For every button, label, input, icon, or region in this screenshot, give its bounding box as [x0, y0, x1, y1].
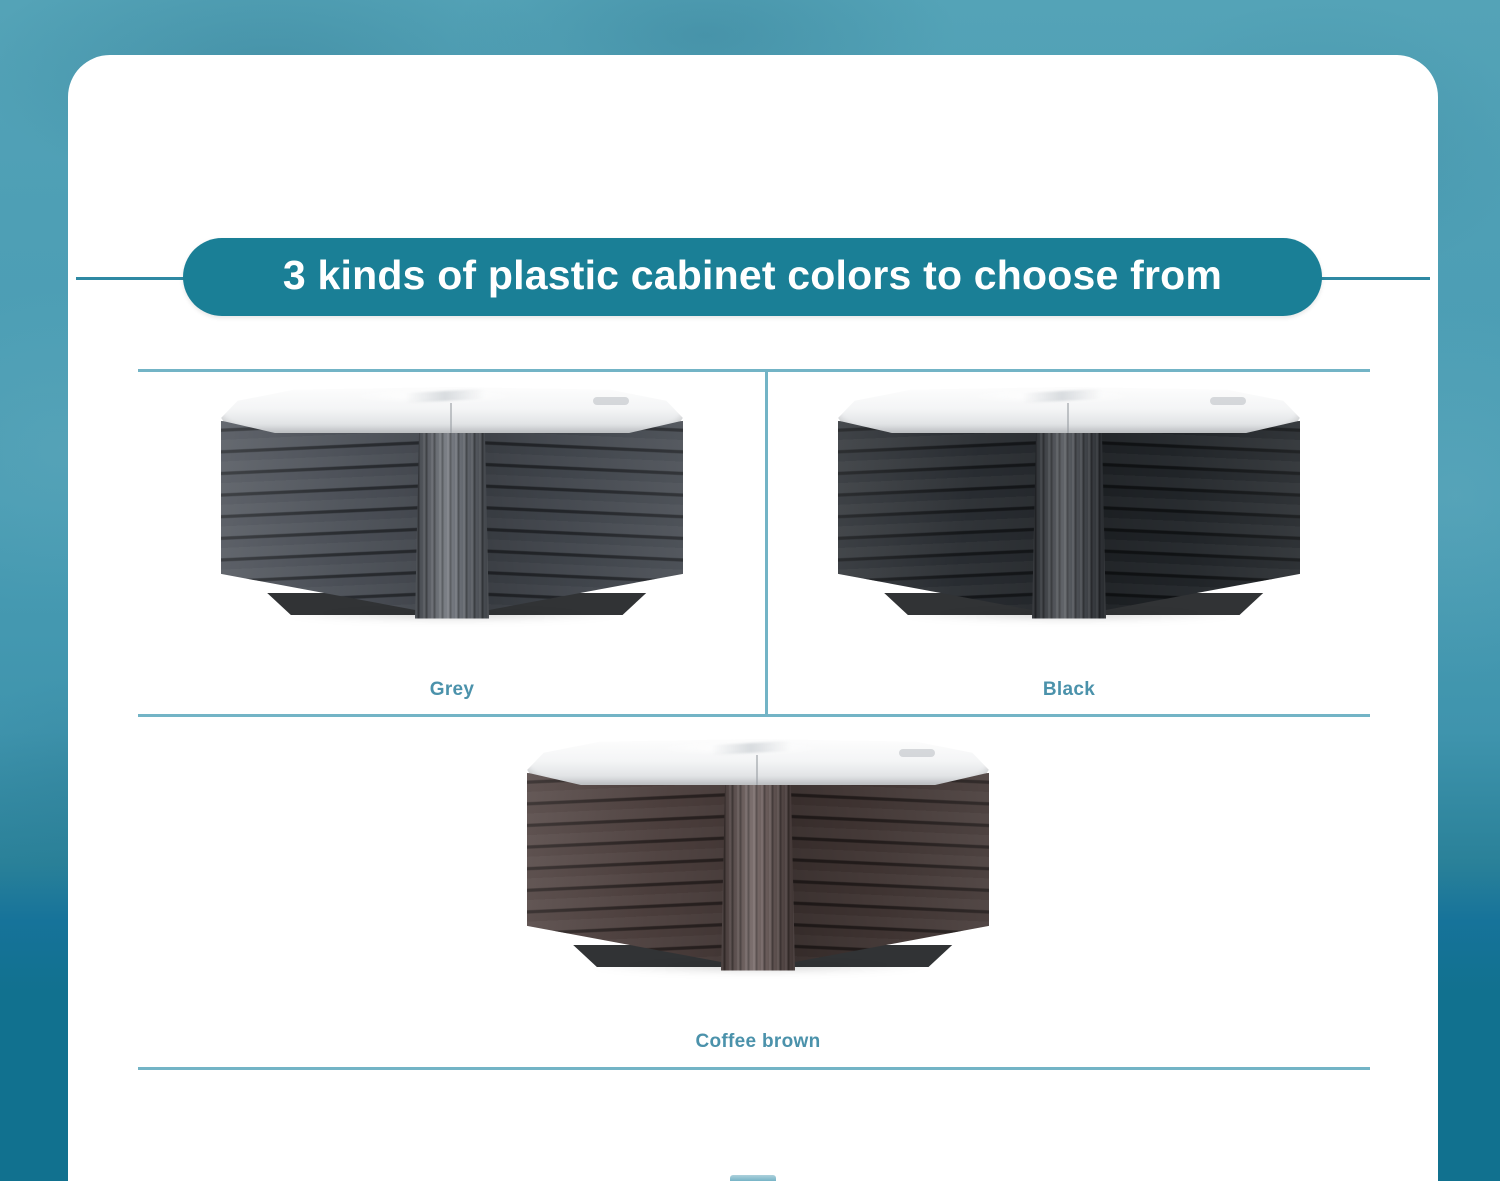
product-cell-black[interactable]: Black: [768, 375, 1370, 715]
content-card: 3 kinds of plastic cabinet colors to cho…: [68, 55, 1438, 1181]
product-label-coffee-brown: Coffee brown: [448, 1031, 1068, 1053]
page-title: 3 kinds of plastic cabinet colors to cho…: [283, 255, 1222, 299]
lid-notch: [1210, 397, 1246, 405]
tub-lid: [525, 733, 991, 795]
cabinet-corner-post: [1032, 415, 1106, 627]
tub-lid: [219, 381, 685, 443]
cabinet-corner-post: [721, 767, 795, 979]
product-image-grey: [138, 375, 766, 633]
tub-lid: [836, 381, 1302, 443]
section-heading-banner: 3 kinds of plastic cabinet colors to cho…: [68, 238, 1438, 318]
product-label-black: Black: [768, 679, 1370, 701]
divider-top: [138, 369, 1370, 372]
corner-highlight: [721, 767, 795, 979]
divider-bottom: [138, 1067, 1370, 1070]
product-label-grey: Grey: [138, 679, 766, 701]
page-root: 3 kinds of plastic cabinet colors to cho…: [0, 0, 1500, 1181]
lid-seam: [450, 403, 452, 433]
product-cell-grey[interactable]: Grey: [138, 375, 766, 715]
product-cell-coffee-brown[interactable]: Coffee brown: [448, 727, 1068, 1067]
product-image-coffee-brown: [448, 727, 1068, 985]
lid-notch: [593, 397, 629, 405]
heading-rule-left: [76, 277, 188, 280]
hot-tub-illustration-black: [834, 381, 1304, 627]
corner-highlight: [1032, 415, 1106, 627]
heading-rule-right: [1318, 277, 1430, 280]
cabinet-corner-post: [415, 415, 489, 627]
hot-tub-illustration-grey: [217, 381, 687, 627]
lid-notch: [899, 749, 935, 757]
heading-pill: 3 kinds of plastic cabinet colors to cho…: [183, 238, 1322, 316]
bottom-accent: [730, 1175, 776, 1181]
lid-seam: [756, 755, 758, 785]
product-image-black: [768, 375, 1370, 633]
hot-tub-illustration-coffee-brown: [523, 733, 993, 979]
corner-highlight: [415, 415, 489, 627]
lid-seam: [1067, 403, 1069, 433]
